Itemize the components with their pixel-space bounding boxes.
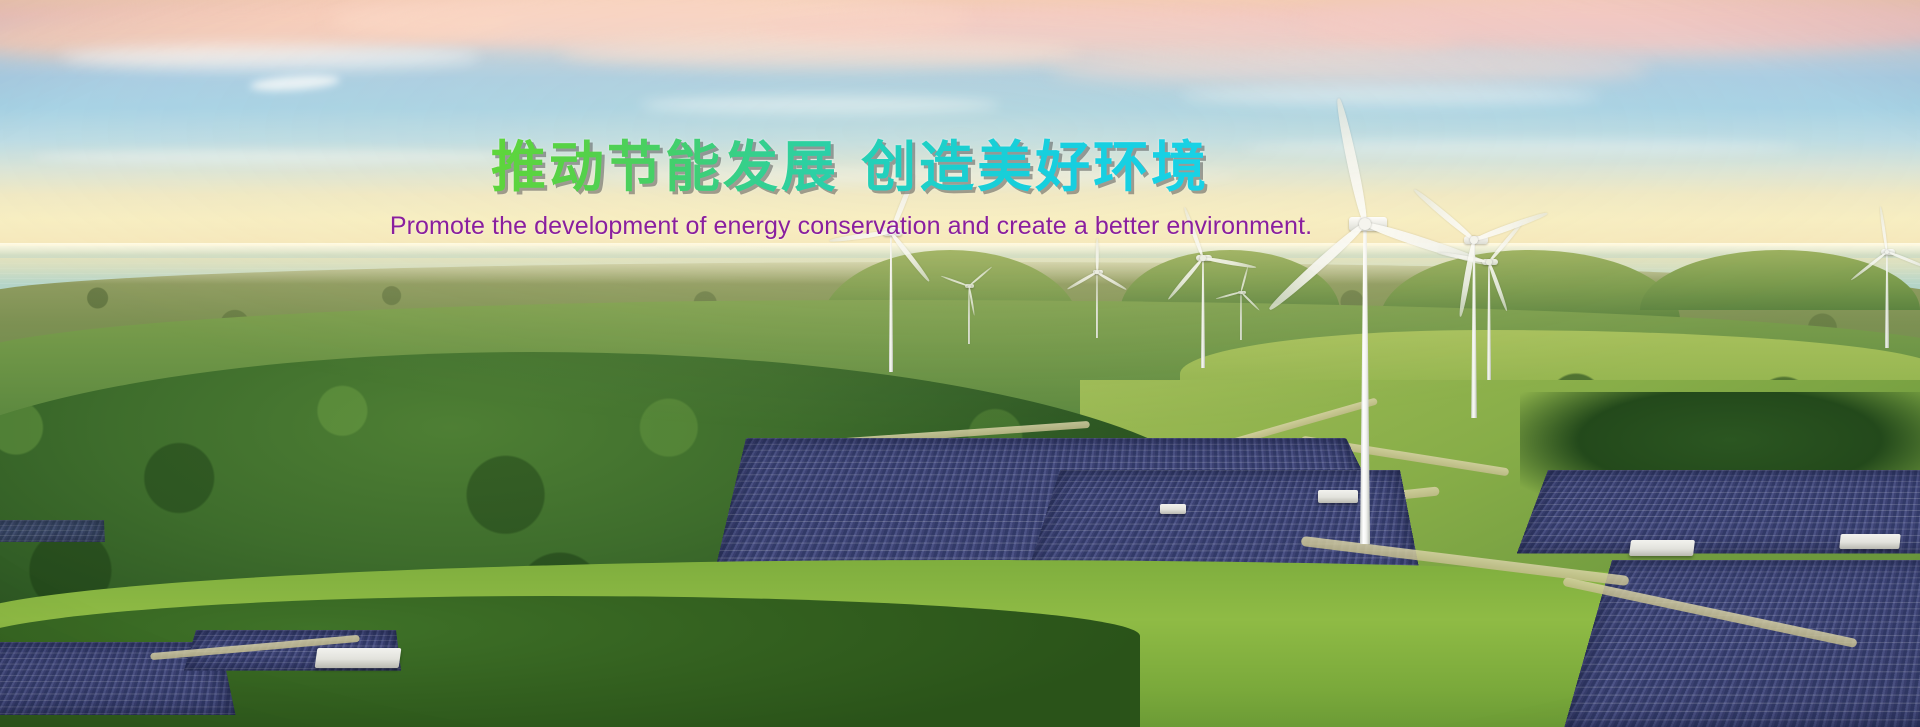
banner-headline-text: 推动节能发展 创造美好环境 (491, 135, 1209, 199)
text-overlay: 推动节能发展 创造美好环境 Promote the development of… (0, 0, 1920, 727)
hero-banner: 推动节能发展 创造美好环境 Promote the development of… (0, 0, 1920, 727)
banner-subtitle: Promote the development of energy conser… (0, 212, 1920, 241)
banner-headline: 推动节能发展 创造美好环境 (0, 140, 1920, 195)
